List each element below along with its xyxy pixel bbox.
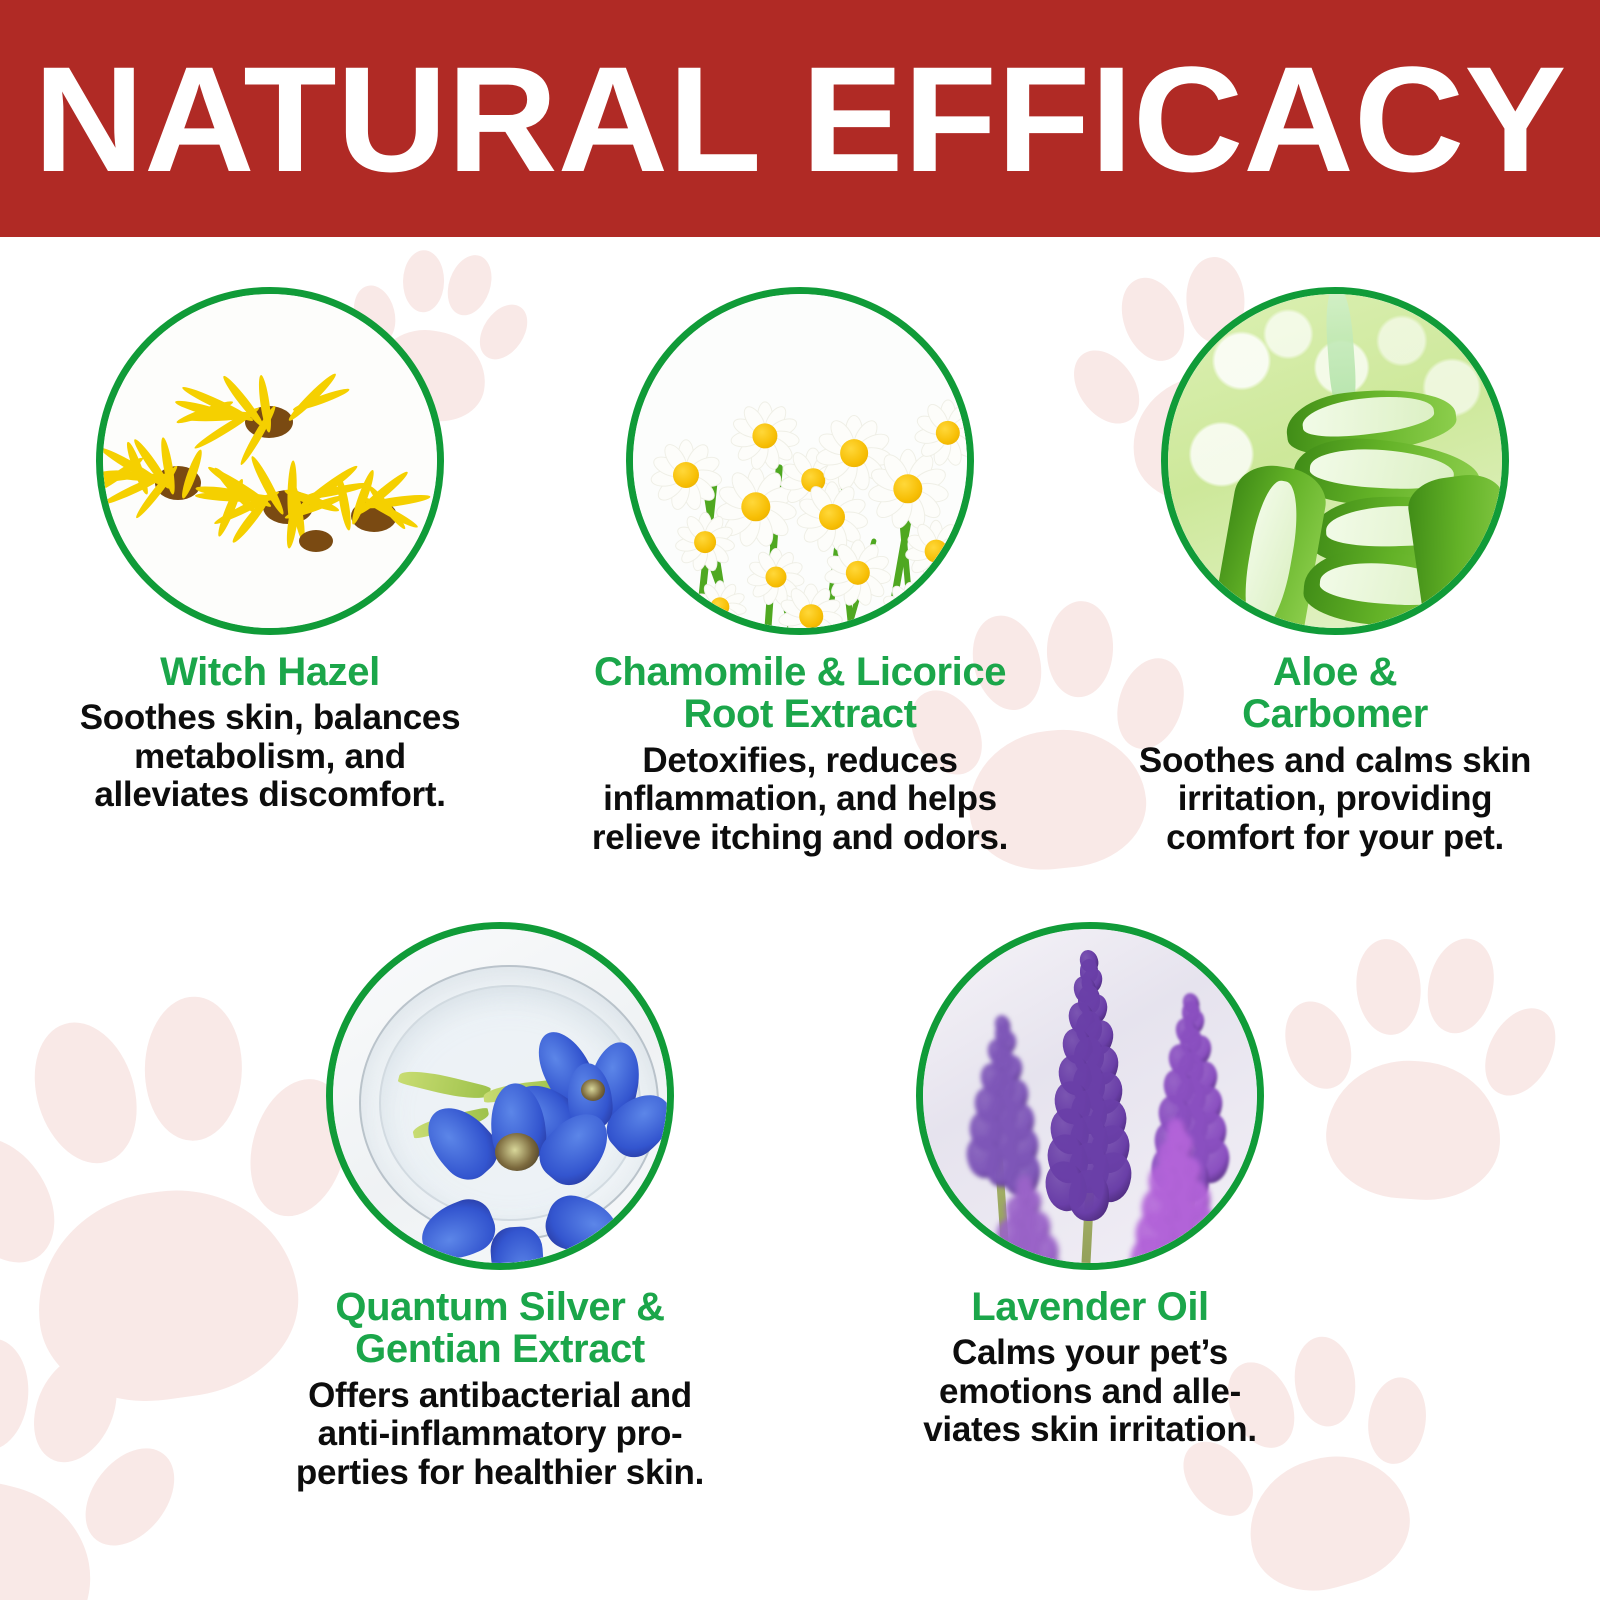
ingredient-image-witch-hazel bbox=[96, 287, 444, 635]
ingredient-title-lavender-oil: Lavender Oil bbox=[845, 1286, 1335, 1328]
ingredient-title-quantum-silver-gentian: Quantum Silver & Gentian Extract bbox=[255, 1286, 745, 1371]
header-banner: NATURAL EFFICACY bbox=[0, 0, 1600, 237]
ingredient-description-quantum-silver-gentian: Offers antibacterial and anti-inflammato… bbox=[255, 1377, 745, 1493]
chamomile-photo bbox=[633, 294, 967, 628]
lavender-spike bbox=[1045, 957, 1133, 1195]
daisy-flower bbox=[655, 444, 717, 506]
daisy-flower bbox=[909, 524, 963, 578]
daisy-flower bbox=[697, 584, 743, 628]
daisy-flower bbox=[873, 454, 943, 524]
ingredient-title-witch-hazel: Witch Hazel bbox=[20, 651, 520, 693]
witch-hazel-photo bbox=[103, 294, 437, 628]
ingredient-card-lavender-oil[interactable]: Lavender Oil Calms your pet’s emotions a… bbox=[845, 922, 1335, 1450]
daisy-flower bbox=[783, 588, 839, 628]
ingredients-grid: Witch Hazel Soothes skin, balances metab… bbox=[0, 237, 1600, 1600]
ingredient-image-lavender bbox=[916, 922, 1264, 1270]
ingredient-image-gentian bbox=[326, 922, 674, 1270]
daisy-flower bbox=[801, 486, 863, 548]
ingredient-card-quantum-silver-gentian[interactable]: Quantum Silver & Gentian Extract Offers … bbox=[255, 922, 745, 1492]
daisy-flower bbox=[679, 516, 731, 568]
daisy-flower bbox=[919, 404, 967, 462]
ingredient-image-chamomile bbox=[626, 287, 974, 635]
lavender-spike bbox=[965, 1021, 1041, 1171]
ingredient-image-aloe bbox=[1161, 287, 1509, 635]
ingredient-card-aloe-carbomer[interactable]: Aloe & Carbomer Soothes and calms skin i… bbox=[1085, 287, 1585, 857]
aloe-photo bbox=[1168, 294, 1502, 628]
lavender-photo bbox=[923, 929, 1257, 1263]
lavender-spike bbox=[1129, 1125, 1225, 1263]
ingredient-description-witch-hazel: Soothes skin, balances metabolism, and a… bbox=[20, 699, 520, 815]
ingredient-description-aloe-carbomer: Soothes and calms skin irritation, provi… bbox=[1085, 742, 1585, 858]
ingredient-description-chamomile-licorice: Detoxifies, reduces inflammation, and he… bbox=[550, 742, 1050, 858]
gentian-photo bbox=[333, 929, 667, 1263]
ingredient-title-aloe-carbomer: Aloe & Carbomer bbox=[1085, 651, 1585, 736]
ingredient-title-chamomile-licorice: Chamomile & Licorice Root Extract bbox=[550, 651, 1050, 736]
lavender-spike bbox=[983, 1181, 1067, 1263]
ingredient-description-lavender-oil: Calms your pet’s emotions and alle-viate… bbox=[845, 1334, 1335, 1450]
ingredient-card-witch-hazel[interactable]: Witch Hazel Soothes skin, balances metab… bbox=[20, 287, 520, 815]
ingredient-card-chamomile-licorice[interactable]: Chamomile & Licorice Root Extract Detoxi… bbox=[550, 287, 1050, 857]
page-title: NATURAL EFFICACY bbox=[34, 44, 1567, 194]
daisy-flower bbox=[885, 586, 935, 628]
